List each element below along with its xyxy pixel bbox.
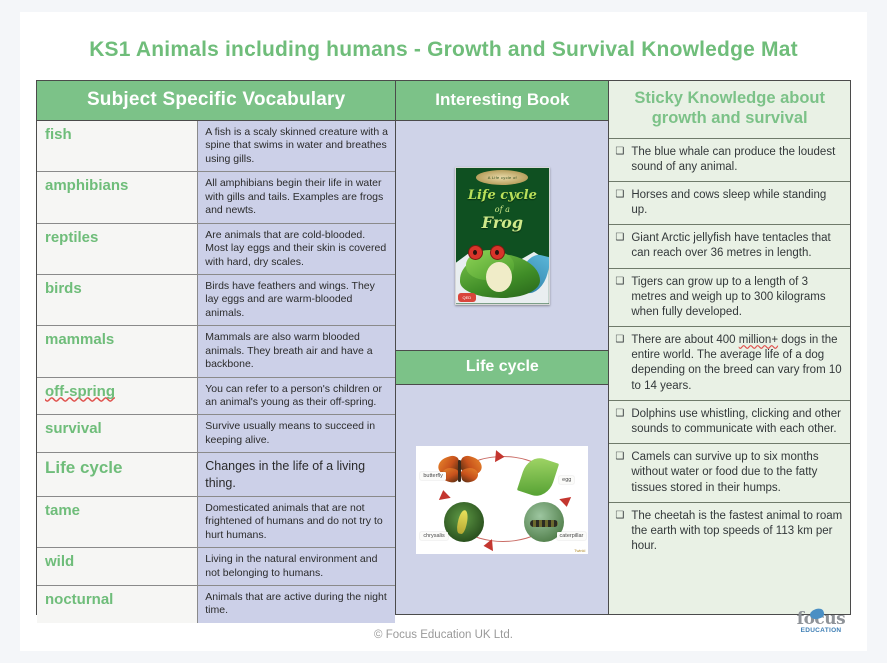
sticky-fact-text: Tigers can grow up to a length of 3 metr… — [631, 275, 844, 321]
butterfly-life-cycle-diagram: butterfly egg caterpillar chrysalis Twin… — [416, 446, 588, 554]
table-row: fish A fish is a scaly skinned creature … — [37, 121, 395, 172]
checkbox-bullet-icon: ❑ — [615, 509, 624, 524]
vocab-definition: Domesticated animals that are not fright… — [198, 497, 395, 547]
chrysalis-shape — [456, 509, 470, 534]
sticky-fact-text: Dolphins use whistling, clicking and oth… — [631, 407, 844, 437]
knowledge-mat-table: Subject Specific Vocabulary fish A fish … — [36, 80, 851, 615]
vocab-term: fish — [37, 121, 198, 171]
sticky-knowledge-column: Sticky Knowledge about growth and surviv… — [609, 81, 850, 614]
vocabulary-column-header: Subject Specific Vocabulary — [37, 81, 395, 121]
vocab-definition: You can refer to a person's children or … — [198, 378, 395, 415]
butterfly-body — [458, 460, 461, 482]
life-cycle-image-pane: butterfly egg caterpillar chrysalis Twin… — [396, 385, 608, 614]
sticky-fact-text: There are about 400 million+ dogs in the… — [631, 333, 844, 394]
table-row: wild Living in the natural environment a… — [37, 548, 395, 586]
list-item: ❑ Horses and cows sleep while standing u… — [609, 182, 850, 225]
footer-copyright: © Focus Education UK Ltd. — [20, 629, 867, 641]
cycle-arrow-icon — [483, 539, 493, 552]
chrysalis-photo-circle — [444, 502, 484, 542]
book-banner: A Life cycle of — [476, 170, 528, 185]
vocab-definition: Birds have feathers and wings. They lay … — [198, 275, 395, 325]
vocab-definition: Changes in the life of a living thing. — [198, 453, 395, 496]
vocab-definition: Survive usually means to succeed in keep… — [198, 415, 395, 452]
table-row: amphibians All amphibians begin their li… — [37, 172, 395, 223]
vocab-term: wild — [37, 548, 198, 585]
book-title-line1: Life cycle — [456, 188, 549, 203]
table-row: birds Birds have feathers and wings. The… — [37, 275, 395, 326]
sticky-fact-text: The blue whale can produce the loudest s… — [631, 145, 844, 175]
checkbox-bullet-icon: ❑ — [615, 275, 624, 290]
vocabulary-rows: fish A fish is a scaly skinned creature … — [37, 121, 395, 623]
vocab-term: Life cycle — [37, 453, 198, 496]
frog-eye-left — [468, 245, 483, 260]
logo-subtext: EDUCATION — [793, 627, 849, 635]
vocab-term: reptiles — [37, 224, 198, 274]
focus-education-logo: focus EDUCATION — [793, 611, 849, 645]
checkbox-bullet-icon: ❑ — [615, 188, 624, 203]
vocab-definition: Mammals are also warm blooded animals. T… — [198, 326, 395, 376]
life-cycle-subheader: Life cycle — [396, 350, 608, 385]
vocab-definition: Animals that are active during the night… — [198, 586, 395, 623]
table-row: mammals Mammals are also warm blooded an… — [37, 326, 395, 377]
list-item: ❑ The blue whale can produce the loudest… — [609, 139, 850, 182]
butterfly-shape — [438, 456, 482, 486]
table-row: reptiles Are animals that are cold-blood… — [37, 224, 395, 275]
frog-eye-right — [490, 245, 505, 260]
interesting-book-column: Interesting Book A Life cycle of Life cy… — [396, 81, 609, 614]
checkbox-bullet-icon: ❑ — [615, 450, 624, 465]
vocab-term: birds — [37, 275, 198, 325]
cycle-label-caterpillar: caterpillar — [557, 532, 587, 540]
cycle-arrow-icon — [495, 450, 505, 463]
vocab-definition: A fish is a scaly skinned creature with … — [198, 121, 395, 171]
vocab-definition: All amphibians begin their life in water… — [198, 172, 395, 222]
sticky-fact-text: The cheetah is the fastest animal to roa… — [631, 509, 844, 555]
book-title-line3: Frog — [456, 213, 549, 232]
cycle-arrow-icon — [438, 489, 451, 500]
checkbox-bullet-icon: ❑ — [615, 231, 624, 246]
book-publisher-mark: QED — [458, 293, 476, 302]
sticky-fact-text: Camels can survive up to six months with… — [631, 450, 844, 496]
page-title: KS1 Animals including humans - Growth an… — [20, 38, 867, 62]
cycle-label-egg: egg — [559, 476, 574, 484]
vocab-definition: Are animals that are cold-blooded. Most … — [198, 224, 395, 274]
list-item: ❑ Giant Arctic jellyfish have tentacles … — [609, 225, 850, 268]
book-column-header: Interesting Book — [396, 81, 608, 121]
sticky-knowledge-list: ❑ The blue whale can produce the loudest… — [609, 139, 850, 614]
list-item: ❑ Camels can survive up to six months wi… — [609, 444, 850, 503]
knowledge-mat-page: KS1 Animals including humans - Growth an… — [20, 12, 867, 651]
vocab-definition: Living in the natural environment and no… — [198, 548, 395, 585]
checkbox-bullet-icon: ❑ — [615, 333, 624, 348]
book-image-pane: A Life cycle of Life cycle of a Frog QED — [396, 121, 608, 350]
vocab-term: amphibians — [37, 172, 198, 222]
list-item: ❑ Dolphins use whistling, clicking and o… — [609, 401, 850, 444]
cycle-label-butterfly: butterfly — [420, 472, 446, 480]
vocab-term: off-spring — [37, 378, 198, 415]
checkbox-bullet-icon: ❑ — [615, 145, 624, 160]
cycle-arrow-icon — [560, 497, 573, 508]
list-item: ❑ There are about 400 million+ dogs in t… — [609, 327, 850, 401]
sticky-knowledge-header: Sticky Knowledge about growth and surviv… — [609, 81, 850, 139]
table-row: Life cycle Changes in the life of a livi… — [37, 453, 395, 497]
table-row: tame Domesticated animals that are not f… — [37, 497, 395, 548]
vocab-term: tame — [37, 497, 198, 547]
vocab-term: mammals — [37, 326, 198, 376]
frog-belly-shape — [486, 262, 512, 292]
diagram-credit: Twinkl — [574, 548, 585, 553]
caterpillar-shape — [530, 520, 558, 527]
table-row: nocturnal Animals that are active during… — [37, 586, 395, 623]
sticky-fact-text: Giant Arctic jellyfish have tentacles th… — [631, 231, 844, 261]
cycle-label-chrysalis: chrysalis — [420, 532, 447, 540]
sticky-fact-text: Horses and cows sleep while standing up. — [631, 188, 844, 218]
list-item: ❑ Tigers can grow up to a length of 3 me… — [609, 269, 850, 328]
vocab-term: survival — [37, 415, 198, 452]
vocab-term: nocturnal — [37, 586, 198, 623]
book-cover-image: A Life cycle of Life cycle of a Frog QED — [455, 167, 550, 305]
list-item: ❑ The cheetah is the fastest animal to r… — [609, 503, 850, 561]
checkbox-bullet-icon: ❑ — [615, 407, 624, 422]
table-row: off-spring You can refer to a person's c… — [37, 378, 395, 416]
vocabulary-column: Subject Specific Vocabulary fish A fish … — [37, 81, 396, 614]
table-row: survival Survive usually means to succee… — [37, 415, 395, 453]
